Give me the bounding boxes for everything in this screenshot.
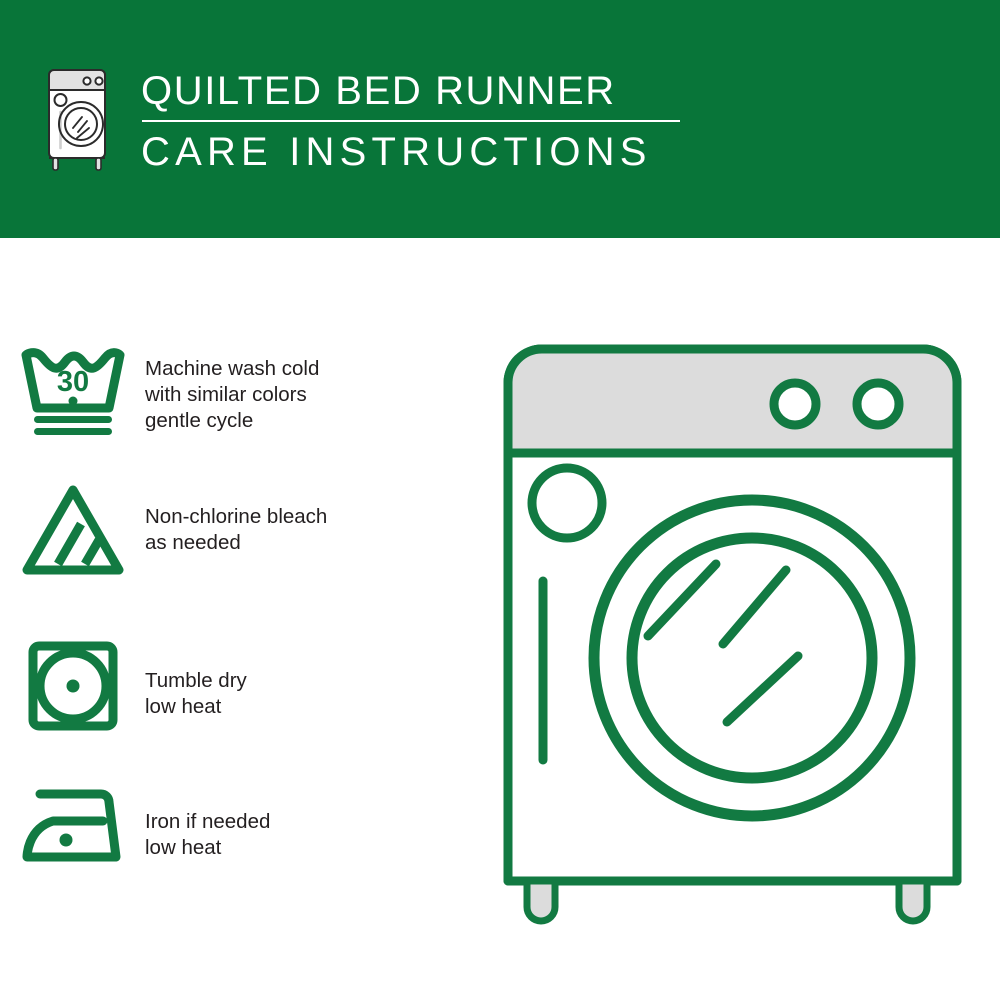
machine-leg-left <box>527 881 555 921</box>
care-row-wash: 30 Machine wash cold with similar colors… <box>0 346 470 438</box>
care-line: Non-chlorine bleach <box>145 504 470 530</box>
care-row-bleach: Non-chlorine bleach as needed <box>0 482 470 578</box>
bleach-stripe-1 <box>58 524 81 564</box>
header-banner: QUILTED BED RUNNER CARE INSTRUCTIONS <box>0 0 1000 238</box>
care-text-dry: Tumble dry low heat <box>145 640 470 720</box>
care-line: low heat <box>145 694 470 720</box>
care-line: with similar colors <box>145 382 470 408</box>
care-symbol-wash: 30 <box>0 346 145 438</box>
care-text-iron: Iron if needed low heat <box>145 785 470 861</box>
care-line: Iron if needed <box>145 809 470 835</box>
care-row-dry: Tumble dry low heat <box>0 640 470 732</box>
wash-temperature-label: 30 <box>56 366 88 398</box>
tumble-dry-icon <box>27 640 119 732</box>
wash-tub-icon: 30 <box>21 346 125 438</box>
door-inner-ring <box>632 538 872 778</box>
dry-heat-dot-icon <box>66 680 79 693</box>
control-knob-left[interactable] <box>774 383 816 425</box>
care-text-wash: Machine wash cold with similar colors ge… <box>145 346 470 434</box>
bleach-stripe-2 <box>85 540 99 564</box>
care-line: gentle cycle <box>145 408 470 434</box>
detergent-dial <box>532 468 602 538</box>
iron-icon <box>19 785 127 863</box>
wash-dot-icon <box>68 397 77 406</box>
bleach-triangle-icon <box>19 482 127 578</box>
care-symbol-iron <box>0 785 145 863</box>
care-instructions-page: QUILTED BED RUNNER CARE INSTRUCTIONS 30 … <box>0 0 1000 1000</box>
gentle-bar-1 <box>34 416 112 423</box>
page-title-product: QUILTED BED RUNNER <box>141 68 741 114</box>
care-line: Tumble dry <box>145 668 470 694</box>
page-title-subtitle: CARE INSTRUCTIONS <box>141 129 741 175</box>
machine-leg-right <box>899 881 927 921</box>
care-text-bleach: Non-chlorine bleach as needed <box>145 482 470 556</box>
title-divider <box>142 120 680 122</box>
gentle-bar-2 <box>34 428 112 435</box>
care-line: as needed <box>145 530 470 556</box>
care-line: low heat <box>145 835 470 861</box>
care-row-iron: Iron if needed low heat <box>0 785 470 863</box>
iron-heat-dot-icon <box>59 834 72 847</box>
washing-machine-illustration <box>495 336 970 931</box>
care-line: Machine wash cold <box>145 356 470 382</box>
care-symbol-bleach <box>0 482 145 578</box>
header-title-block: QUILTED BED RUNNER CARE INSTRUCTIONS <box>141 68 741 175</box>
control-knob-right[interactable] <box>857 383 899 425</box>
care-symbol-dry <box>0 640 145 732</box>
washing-machine-icon <box>45 66 119 174</box>
